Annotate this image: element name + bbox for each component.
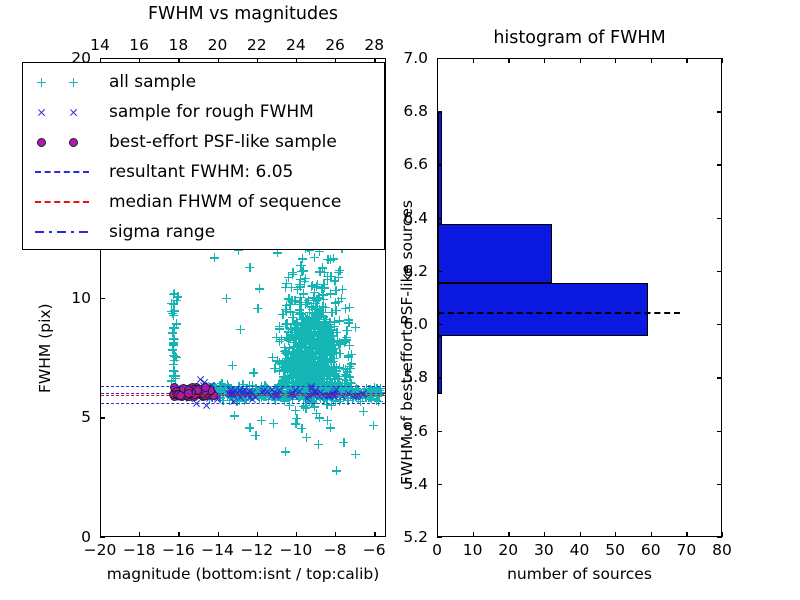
scatter-point-all-sample — [306, 342, 315, 351]
scatter-point-all-sample — [299, 365, 308, 374]
histogram-axes — [437, 58, 722, 537]
scatter-point-all-sample — [313, 343, 322, 352]
scatter-point-all-sample — [312, 366, 321, 375]
scatter-point-all-sample — [319, 303, 328, 312]
scatter-point-all-sample — [302, 363, 311, 372]
histogram-x-tick-label: 40 — [570, 541, 590, 559]
scatter-point-all-sample — [312, 349, 321, 358]
histogram-title: histogram of FWHM — [437, 28, 722, 48]
legend-entry: sigma range — [23, 217, 384, 247]
scatter-point-all-sample — [329, 363, 338, 372]
scatter-point-all-sample — [296, 338, 305, 347]
scatter-point-all-sample — [367, 390, 376, 399]
scatter-point-all-sample — [301, 316, 310, 325]
scatter-point-all-sample — [304, 364, 313, 373]
scatter-point-all-sample — [319, 291, 328, 300]
scatter-point-all-sample — [309, 293, 318, 302]
scatter-point-all-sample — [279, 365, 288, 374]
scatter-point-all-sample — [207, 383, 216, 392]
scatter-point-all-sample — [169, 323, 178, 332]
scatter-point-all-sample — [329, 254, 338, 263]
scatter-point-all-sample — [301, 340, 310, 349]
scatter-point-all-sample — [337, 294, 346, 303]
scatter-point-all-sample — [300, 368, 309, 377]
histogram-x-tick — [651, 532, 652, 537]
scatter-point-psf-like — [184, 387, 193, 396]
scatter-point-all-sample — [304, 390, 313, 399]
scatter-point-all-sample — [307, 353, 316, 362]
scatter-point-all-sample — [319, 295, 328, 304]
scatter-point-all-sample — [313, 380, 322, 389]
scatter-point-all-sample — [286, 371, 295, 380]
scatter-point-all-sample — [327, 325, 336, 334]
scatter-point-all-sample — [232, 390, 241, 399]
scatter-point-all-sample — [351, 450, 360, 459]
scatter-point-all-sample — [171, 374, 180, 383]
scatter-point-all-sample — [318, 369, 327, 378]
scatter-point-all-sample — [283, 373, 292, 382]
scatter-point-all-sample — [288, 270, 297, 279]
scatter-point-all-sample — [318, 308, 327, 317]
scatter-point-all-sample — [308, 344, 317, 353]
scatter-point-all-sample — [302, 351, 311, 360]
scatter-point-all-sample — [169, 311, 178, 320]
legend-cross-icon — [69, 108, 78, 117]
scatter-point-all-sample — [304, 363, 313, 372]
scatter-point-all-sample — [275, 366, 284, 375]
scatter-point-all-sample — [312, 311, 321, 320]
scatter-point-all-sample — [301, 383, 310, 392]
scatter-point-all-sample — [293, 370, 302, 379]
scatter-point-all-sample — [315, 336, 324, 345]
scatter-point-all-sample — [335, 316, 344, 325]
scatter-point-all-sample — [321, 332, 330, 341]
scatter-point-all-sample — [298, 360, 307, 369]
x-tick-bottom — [257, 532, 258, 537]
scatter-point-all-sample — [336, 339, 345, 348]
scatter-point-all-sample — [314, 367, 323, 376]
scatter-point-all-sample — [307, 376, 316, 385]
scatter-point-all-sample — [307, 377, 316, 386]
scatter-point-all-sample — [298, 377, 307, 386]
histogram-y-tick-label: 5.2 — [403, 528, 428, 546]
scatter-point-all-sample — [293, 326, 302, 335]
scatter-point-all-sample — [312, 339, 321, 348]
scatter-point-all-sample — [306, 366, 315, 375]
scatter-point-all-sample — [306, 333, 315, 342]
scatter-point-all-sample — [348, 393, 357, 402]
scatter-point-psf-like — [192, 390, 201, 399]
scatter-point-all-sample — [310, 353, 319, 362]
scatter-point-all-sample — [299, 335, 308, 344]
scatter-point-all-sample — [310, 375, 319, 384]
scatter-point-all-sample — [334, 268, 343, 277]
histogram-x-tick-top — [686, 58, 687, 63]
scatter-point-all-sample — [319, 354, 328, 363]
scatter-point-all-sample — [323, 335, 332, 344]
scatter-point-all-sample — [171, 371, 180, 380]
scatter-point-all-sample — [299, 355, 308, 364]
scatter-point-all-sample — [292, 346, 301, 355]
scatter-point-all-sample — [294, 347, 303, 356]
scatter-point-all-sample — [300, 339, 309, 348]
scatter-point-all-sample — [237, 387, 246, 396]
scatter-point-all-sample — [304, 344, 313, 353]
scatter-point-all-sample — [313, 364, 322, 373]
scatter-point-all-sample — [293, 390, 302, 399]
scatter-point-all-sample — [345, 341, 354, 350]
x-tick-label-top: 28 — [364, 36, 384, 54]
histogram-bar — [438, 224, 552, 283]
scatter-point-all-sample — [315, 324, 324, 333]
scatter-point-all-sample — [312, 376, 321, 385]
scatter-point-rough-fwhm — [245, 393, 254, 402]
scatter-point-all-sample — [316, 374, 325, 383]
scatter-point-all-sample — [303, 313, 312, 322]
scatter-point-all-sample — [282, 279, 291, 288]
scatter-point-all-sample — [330, 362, 339, 371]
scatter-point-all-sample — [300, 373, 309, 382]
scatter-point-all-sample — [344, 383, 353, 392]
scatter-point-all-sample — [308, 358, 317, 367]
scatter-point-all-sample — [308, 362, 317, 371]
scatter-point-all-sample — [318, 352, 327, 361]
scatter-point-all-sample — [304, 390, 313, 399]
scatter-point-all-sample — [315, 342, 324, 351]
histogram-y-tick-right — [717, 218, 722, 219]
scatter-point-all-sample — [326, 356, 335, 365]
scatter-point-all-sample — [297, 364, 306, 373]
scatter-point-all-sample — [293, 351, 302, 360]
scatter-point-all-sample — [300, 360, 309, 369]
scatter-point-all-sample — [321, 348, 330, 357]
scatter-point-all-sample — [316, 375, 325, 384]
scatter-point-all-sample — [284, 347, 293, 356]
scatter-point-all-sample — [287, 374, 296, 383]
scatter-point-all-sample — [310, 374, 319, 383]
scatter-point-all-sample — [302, 298, 311, 307]
scatter-point-all-sample — [298, 336, 307, 345]
scatter-point-all-sample — [282, 319, 291, 328]
scatter-point-all-sample — [287, 324, 296, 333]
scatter-point-all-sample — [210, 253, 219, 262]
scatter-point-all-sample — [300, 322, 309, 331]
scatter-point-all-sample — [227, 387, 236, 396]
histogram-y-tick-right — [717, 58, 722, 59]
scatter-point-all-sample — [322, 390, 331, 399]
scatter-point-all-sample — [315, 383, 324, 392]
scatter-point-all-sample — [305, 343, 314, 352]
scatter-point-all-sample — [324, 371, 333, 380]
scatter-point-all-sample — [296, 349, 305, 358]
scatter-point-all-sample — [308, 373, 317, 382]
scatter-point-all-sample — [318, 327, 327, 336]
scatter-point-all-sample — [327, 331, 336, 340]
scatter-point-all-sample — [282, 384, 291, 393]
scatter-point-all-sample — [253, 304, 262, 313]
scatter-point-all-sample — [298, 336, 307, 345]
scatter-point-all-sample — [311, 368, 320, 377]
scatter-point-all-sample — [287, 332, 296, 341]
scatter-point-all-sample — [300, 351, 309, 360]
legend-plus-icon — [69, 78, 78, 87]
scatter-point-all-sample — [308, 352, 317, 361]
scatter-point-all-sample — [286, 325, 295, 334]
scatter-point-all-sample — [284, 390, 293, 399]
scatter-point-all-sample — [206, 383, 215, 392]
scatter-point-all-sample — [327, 350, 336, 359]
scatter-point-all-sample — [283, 333, 292, 342]
histogram-x-tick-label: 20 — [498, 541, 518, 559]
scatter-point-all-sample — [298, 343, 307, 352]
scatter-point-all-sample — [309, 341, 318, 350]
scatter-point-all-sample — [314, 293, 323, 302]
scatter-point-all-sample — [307, 338, 316, 347]
scatter-point-psf-like — [184, 386, 193, 395]
scatter-point-all-sample — [297, 354, 306, 363]
scatter-point-all-sample — [322, 367, 331, 376]
scatter-point-all-sample — [297, 369, 306, 378]
scatter-point-all-sample — [293, 319, 302, 328]
scatter-point-all-sample — [317, 380, 326, 389]
histogram-y-tick — [437, 271, 442, 272]
scatter-point-all-sample — [347, 350, 356, 359]
scatter-point-all-sample — [290, 296, 299, 305]
scatter-point-all-sample — [314, 353, 323, 362]
scatter-point-all-sample — [297, 325, 306, 334]
scatter-point-all-sample — [297, 377, 306, 386]
scatter-point-all-sample — [309, 313, 318, 322]
scatter-point-all-sample — [169, 360, 178, 369]
scatter-point-all-sample — [232, 397, 241, 406]
scatter-point-all-sample — [325, 333, 334, 342]
scatter-point-all-sample — [311, 315, 320, 324]
scatter-point-all-sample — [302, 349, 311, 358]
scatter-point-all-sample — [312, 318, 321, 327]
scatter-point-all-sample — [307, 383, 316, 392]
scatter-point-all-sample — [304, 296, 313, 305]
scatter-point-all-sample — [320, 366, 329, 375]
scatter-point-all-sample — [252, 387, 261, 396]
scatter-point-all-sample — [296, 323, 305, 332]
x-tick-bottom — [296, 532, 297, 537]
scatter-point-all-sample — [308, 359, 317, 368]
scatter-point-all-sample — [319, 327, 328, 336]
scatter-point-all-sample — [314, 321, 323, 330]
scatter-point-all-sample — [297, 350, 306, 359]
scatter-point-all-sample — [322, 377, 331, 386]
scatter-point-all-sample — [295, 352, 304, 361]
scatter-point-all-sample — [278, 377, 287, 386]
scatter-point-all-sample — [325, 339, 334, 348]
scatter-point-all-sample — [308, 373, 317, 382]
scatter-point-rough-fwhm — [229, 390, 238, 399]
scatter-point-all-sample — [309, 357, 318, 366]
scatter-point-all-sample — [343, 367, 352, 376]
scatter-point-all-sample — [321, 315, 330, 324]
scatter-point-all-sample — [304, 368, 313, 377]
scatter-point-all-sample — [315, 308, 324, 317]
legend-entry: sample for rough FWHM — [23, 97, 384, 127]
scatter-point-all-sample — [299, 371, 308, 380]
histogram-x-tick — [580, 532, 581, 537]
scatter-point-all-sample — [321, 361, 330, 370]
scatter-point-all-sample — [307, 375, 316, 384]
scatter-point-all-sample — [320, 360, 329, 369]
scatter-point-all-sample — [280, 396, 289, 405]
scatter-point-all-sample — [290, 359, 299, 368]
scatter-point-all-sample — [308, 335, 317, 344]
scatter-point-all-sample — [314, 320, 323, 329]
scatter-point-all-sample — [312, 342, 321, 351]
scatter-point-all-sample — [281, 363, 290, 372]
scatter-point-all-sample — [283, 354, 292, 363]
scatter-point-all-sample — [169, 290, 178, 299]
scatter-point-all-sample — [302, 336, 311, 345]
scatter-point-all-sample — [285, 300, 294, 309]
resultant-fwhm-line — [101, 393, 385, 394]
legend: all samplesample for rough FWHMbest-effo… — [22, 62, 385, 250]
scatter-point-all-sample — [285, 373, 294, 382]
scatter-point-all-sample — [297, 350, 306, 359]
scatter-point-all-sample — [281, 356, 290, 365]
scatter-point-all-sample — [300, 357, 309, 366]
scatter-point-all-sample — [168, 309, 177, 318]
scatter-point-all-sample — [307, 364, 316, 373]
scatter-point-all-sample — [318, 263, 327, 272]
scatter-point-all-sample — [326, 289, 335, 298]
scatter-point-rough-fwhm — [195, 383, 204, 392]
scatter-point-all-sample — [316, 370, 325, 379]
scatter-point-all-sample — [306, 368, 315, 377]
scatter-point-all-sample — [316, 360, 325, 369]
scatter-point-all-sample — [324, 334, 333, 343]
scatter-point-all-sample — [311, 364, 320, 373]
scatter-point-all-sample — [297, 370, 306, 379]
scatter-point-all-sample — [293, 321, 302, 330]
scatter-point-all-sample — [264, 390, 273, 399]
scatter-point-all-sample — [305, 396, 314, 405]
scatter-point-all-sample — [318, 363, 327, 372]
scatter-point-all-sample — [303, 360, 312, 369]
scatter-point-all-sample — [306, 373, 315, 382]
scatter-point-all-sample — [301, 342, 310, 351]
scatter-point-all-sample — [326, 318, 335, 327]
scatter-point-all-sample — [308, 347, 317, 356]
scatter-point-all-sample — [304, 379, 313, 388]
scatter-point-all-sample — [306, 353, 315, 362]
scatter-point-all-sample — [294, 329, 303, 338]
scatter-point-all-sample — [300, 370, 309, 379]
scatter-point-all-sample — [306, 380, 315, 389]
scatter-point-all-sample — [310, 393, 319, 402]
scatter-point-all-sample — [324, 358, 333, 367]
scatter-point-all-sample — [305, 321, 314, 330]
scatter-point-all-sample — [327, 354, 336, 363]
scatter-point-all-sample — [327, 357, 336, 366]
scatter-point-all-sample — [172, 320, 181, 329]
y-tick-label: 0 — [81, 528, 91, 546]
scatter-point-all-sample — [291, 334, 300, 343]
scatter-point-all-sample — [309, 373, 318, 382]
scatter-point-all-sample — [310, 328, 319, 337]
scatter-point-all-sample — [323, 275, 332, 284]
scatter-point-all-sample — [324, 346, 333, 355]
scatter-point-all-sample — [284, 336, 293, 345]
scatter-point-all-sample — [309, 367, 318, 376]
scatter-point-all-sample — [313, 383, 322, 392]
scatter-point-all-sample — [294, 363, 303, 372]
scatter-point-all-sample — [317, 284, 326, 293]
scatter-point-all-sample — [323, 390, 332, 399]
scatter-point-all-sample — [288, 365, 297, 374]
histogram-x-tick — [544, 532, 545, 537]
scatter-point-all-sample — [319, 380, 328, 389]
scatter-point-all-sample — [302, 334, 311, 343]
scatter-point-all-sample — [297, 310, 306, 319]
scatter-point-all-sample — [248, 390, 257, 399]
scatter-point-all-sample — [351, 323, 360, 332]
scatter-point-all-sample — [285, 334, 294, 343]
x-tick-label-bottom: −6 — [363, 541, 386, 559]
histogram-x-tick-top — [544, 58, 545, 63]
scatter-point-all-sample — [358, 393, 367, 402]
scatter-point-all-sample — [295, 298, 304, 307]
scatter-point-all-sample — [297, 346, 306, 355]
scatter-point-all-sample — [300, 330, 309, 339]
scatter-point-all-sample — [312, 319, 321, 328]
scatter-point-all-sample — [274, 380, 283, 389]
scatter-point-all-sample — [313, 327, 322, 336]
scatter-point-all-sample — [317, 359, 326, 368]
scatter-point-all-sample — [359, 407, 368, 416]
scatter-point-all-sample — [369, 421, 378, 430]
scatter-point-all-sample — [321, 393, 330, 402]
scatter-point-all-sample — [274, 387, 283, 396]
scatter-point-all-sample — [302, 383, 311, 392]
scatter-point-all-sample — [288, 268, 297, 277]
scatter-point-all-sample — [278, 310, 287, 319]
scatter-point-all-sample — [314, 327, 323, 336]
scatter-point-all-sample — [288, 365, 297, 374]
scatter-point-all-sample — [288, 313, 297, 322]
scatter-point-all-sample — [303, 369, 312, 378]
scatter-point-all-sample — [294, 339, 303, 348]
scatter-point-all-sample — [321, 390, 330, 399]
x-tick-label-top: 16 — [129, 36, 149, 54]
scatter-point-all-sample — [323, 321, 332, 330]
scatter-point-all-sample — [321, 336, 330, 345]
scatter-point-all-sample — [280, 347, 289, 356]
scatter-point-all-sample — [302, 374, 311, 383]
scatter-point-all-sample — [319, 348, 328, 357]
scatter-point-all-sample — [341, 304, 350, 313]
scatter-point-all-sample — [316, 322, 325, 331]
x-tick-label-top: 22 — [247, 36, 267, 54]
scatter-point-all-sample — [323, 323, 332, 332]
scatter-point-all-sample — [278, 393, 287, 402]
scatter-point-all-sample — [360, 387, 369, 396]
scatter-point-all-sample — [295, 373, 304, 382]
scatter-point-all-sample — [302, 433, 311, 442]
scatter-point-all-sample — [203, 390, 212, 399]
scatter-point-all-sample — [318, 367, 327, 376]
scatter-point-all-sample — [319, 323, 328, 332]
scatter-point-all-sample — [281, 373, 290, 382]
scatter-point-all-sample — [301, 326, 310, 335]
scatter-point-all-sample — [335, 375, 344, 384]
scatter-point-all-sample — [237, 390, 246, 399]
